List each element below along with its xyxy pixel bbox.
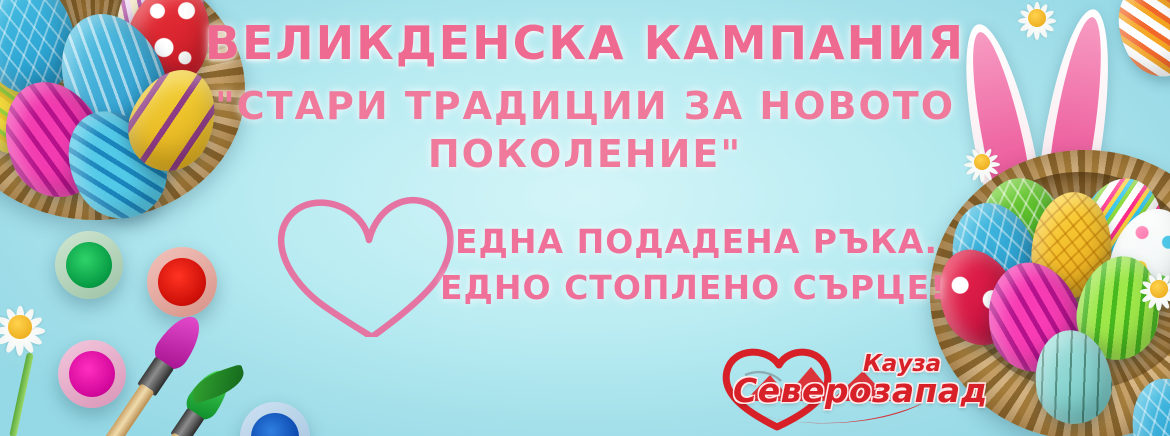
logo-main-word: Северозапад: [733, 371, 988, 410]
subtitle-line-2: ПОКОЛЕНИЕ": [0, 132, 1170, 176]
page-title: ВЕЛИКДЕНСКА КАМПАНИЯ: [0, 16, 1170, 70]
subtitle-line-1: "СТАРИ ТРАДИЦИИ ЗА НОВОТО: [0, 84, 1170, 128]
slogan-line-1: ЕДНА ПОДАДЕНА РЪКА.: [455, 222, 915, 261]
slogan-line-2: ЕДНО СТОПЛЕНО СЪРЦЕ!: [440, 268, 910, 307]
paint-pot-magenta: [58, 340, 126, 408]
daisy-right-edge: [1128, 258, 1170, 320]
paint-pot-red: [147, 247, 217, 317]
logo-kauza-severozapad[interactable]: Кауза Северозапад: [715, 345, 960, 433]
easter-campaign-banner: ВЕЛИКДЕНСКА КАМПАНИЯ "СТАРИ ТРАДИЦИИ ЗА …: [0, 0, 1170, 436]
heart-drawing: [272, 182, 467, 337]
paint-pot-blue: [240, 402, 310, 436]
paint-pot-green: [55, 231, 123, 299]
